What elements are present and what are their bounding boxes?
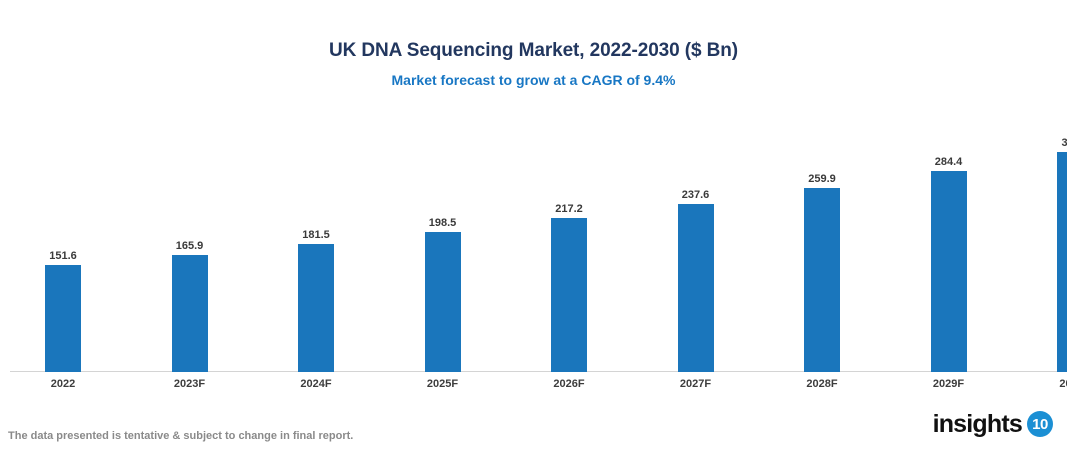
bar[interactable]	[678, 204, 714, 372]
logo-wordmark: insights	[933, 412, 1022, 437]
bar-value-label: 151.6	[49, 250, 77, 262]
bar-group[interactable]: 181.5	[298, 110, 334, 372]
plot-area: 151.6165.9181.5198.5217.2237.6259.9284.4…	[10, 110, 1057, 372]
bar-value-label: 237.6	[682, 189, 710, 201]
bar-group[interactable]: 311.1	[1057, 110, 1067, 372]
bar[interactable]	[804, 188, 840, 372]
bar-value-label: 284.4	[935, 156, 963, 168]
logo-badge-icon: 10	[1027, 411, 1053, 437]
bar-value-label: 311.1	[1062, 137, 1067, 149]
x-tick-label: 2025F	[427, 378, 458, 390]
bar-group[interactable]: 198.5	[425, 110, 461, 372]
bar-value-label: 165.9	[176, 240, 204, 252]
bar-value-label: 181.5	[302, 229, 330, 241]
bar[interactable]	[298, 244, 334, 372]
chart-title: UK DNA Sequencing Market, 2022-2030 ($ B…	[0, 40, 1067, 62]
chart-container: UK DNA Sequencing Market, 2022-2030 ($ B…	[0, 0, 1067, 454]
bar[interactable]	[45, 265, 81, 372]
bar[interactable]	[931, 171, 967, 372]
x-tick-label: 2030F	[1059, 378, 1067, 390]
insights10-logo: insights 10	[933, 411, 1053, 437]
x-tick-label: 2023F	[174, 378, 205, 390]
x-tick-label: 2022	[51, 378, 75, 390]
bar[interactable]	[172, 255, 208, 372]
disclaimer-text: The data presented is tentative & subjec…	[8, 430, 353, 442]
x-tick-label: 2029F	[933, 378, 964, 390]
bar[interactable]	[425, 232, 461, 372]
bar-value-label: 198.5	[429, 217, 457, 229]
bar[interactable]	[551, 218, 587, 372]
bar-group[interactable]: 259.9	[804, 110, 840, 372]
bar-group[interactable]: 151.6	[45, 110, 81, 372]
x-tick-label: 2027F	[680, 378, 711, 390]
bar-group[interactable]: 284.4	[931, 110, 967, 372]
bar-value-label: 217.2	[555, 203, 583, 215]
x-tick-label: 2024F	[300, 378, 331, 390]
x-tick-label: 2026F	[553, 378, 584, 390]
bar-group[interactable]: 217.2	[551, 110, 587, 372]
bar[interactable]	[1057, 152, 1067, 372]
bar-group[interactable]: 237.6	[678, 110, 714, 372]
chart-subtitle: Market forecast to grow at a CAGR of 9.4…	[0, 72, 1067, 88]
bar-value-label: 259.9	[808, 173, 836, 185]
bar-group[interactable]: 165.9	[172, 110, 208, 372]
x-tick-label: 2028F	[806, 378, 837, 390]
